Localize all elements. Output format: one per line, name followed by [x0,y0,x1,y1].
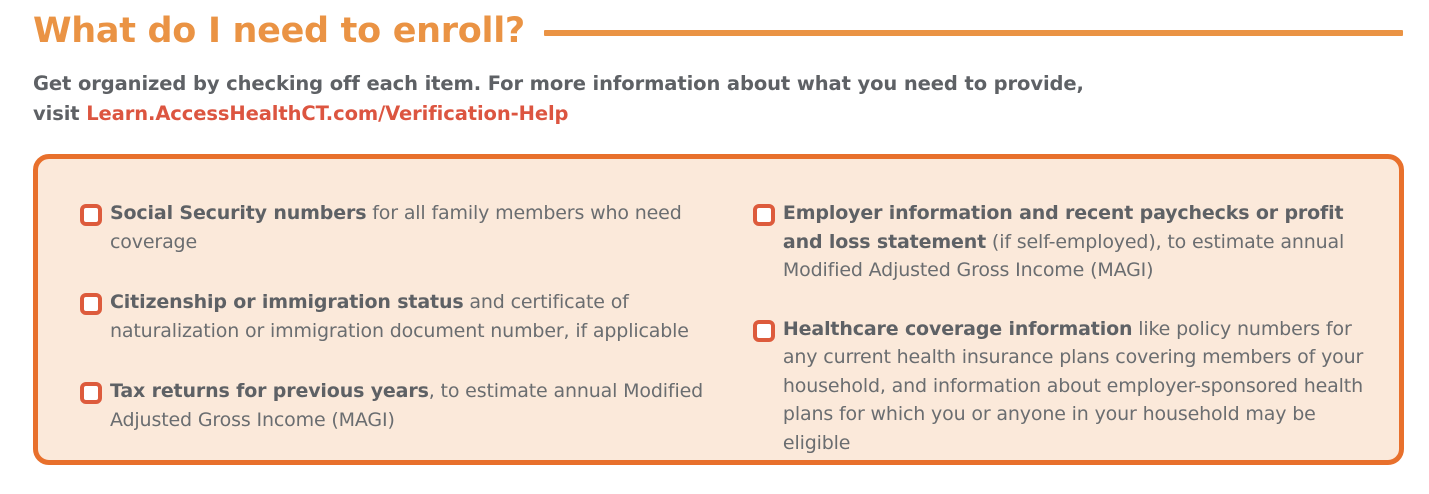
list-item-text: Citizenship or immigration status and ce… [110,288,738,345]
checkbox-healthcare-coverage-information[interactable] [753,320,775,342]
subtitle-line-1: Get organized by checking off each item.… [33,72,1084,95]
checkbox-citizenship-or-immigration-status[interactable] [80,293,102,315]
verification-help-link[interactable]: Learn.AccessHealthCT.com/Verification-He… [86,102,568,125]
checkbox-social-security-numbers[interactable] [80,204,102,226]
list-item-strong: Healthcare coverage information [783,318,1132,340]
page-header: What do I need to enroll? Get organized … [33,8,1403,128]
checkbox-tax-returns-for-previous-years[interactable] [80,382,102,404]
list-item[interactable]: Citizenship or immigration status and ce… [80,288,738,345]
list-item-text: Healthcare coverage information like pol… [783,315,1387,458]
list-item-strong: Citizenship or immigration status [110,291,464,313]
list-item[interactable]: Employer information and recent paycheck… [753,199,1387,285]
enrollment-checklist-page: What do I need to enroll? Get organized … [0,0,1429,494]
list-item-strong: Tax returns for previous years [110,380,429,402]
list-item[interactable]: Social Security numbers for all family m… [80,199,738,256]
checklist-column-left: Social Security numbers for all family m… [38,199,748,460]
list-item-text: Social Security numbers for all family m… [110,199,738,256]
checklist-card: Social Security numbers for all family m… [33,154,1404,465]
list-item-text: Tax returns for previous years, to estim… [110,377,738,434]
title-row: What do I need to enroll? [33,8,1403,54]
title-divider-rule [544,30,1403,36]
list-item-text: Employer information and recent paycheck… [783,199,1387,285]
page-subtitle: Get organized by checking off each item.… [33,69,1403,128]
page-title: What do I need to enroll? [33,14,525,49]
list-item[interactable]: Healthcare coverage information like pol… [753,315,1387,458]
list-item[interactable]: Tax returns for previous years, to estim… [80,377,738,434]
list-item-strong: Social Security numbers [110,202,366,224]
subtitle-visit-prefix: visit [33,102,86,125]
checklist-columns: Social Security numbers for all family m… [38,159,1399,460]
checklist-column-right: Employer information and recent paycheck… [748,199,1399,460]
checkbox-employer-information-and-paychecks[interactable] [753,204,775,226]
